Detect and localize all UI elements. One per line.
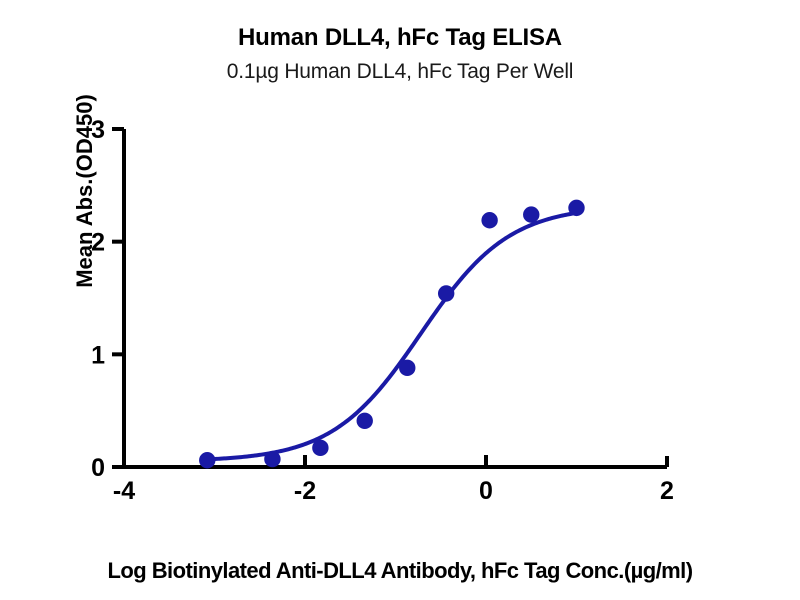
data-point: [357, 413, 373, 429]
fit-curve-layer: [207, 213, 576, 459]
y-tick-label: 0: [91, 454, 105, 482]
data-point: [264, 451, 280, 467]
y-tick-label: 1: [91, 341, 105, 369]
data-point: [199, 452, 215, 468]
tick-layer: [112, 129, 667, 467]
x-tick-label: -4: [113, 477, 135, 505]
x-tick-label: 2: [660, 477, 674, 505]
y-tick-label: 3: [91, 116, 105, 144]
data-point: [568, 200, 584, 216]
tick-label-layer: -4-2020123: [91, 116, 674, 505]
data-point: [523, 206, 539, 222]
fit-curve: [207, 213, 576, 459]
axis-layer: [124, 129, 667, 467]
data-point: [481, 212, 497, 228]
plot-area: -4-2020123: [0, 0, 800, 600]
data-point: [399, 360, 415, 376]
y-tick-label: 2: [91, 229, 105, 257]
data-point: [312, 440, 328, 456]
data-points-layer: [199, 200, 585, 469]
elisa-chart-figure: Human DLL4, hFc Tag ELISA 0.1µg Human DL…: [0, 0, 800, 600]
x-tick-label: 0: [479, 477, 493, 505]
x-tick-label: -2: [294, 477, 316, 505]
data-point: [438, 285, 454, 301]
